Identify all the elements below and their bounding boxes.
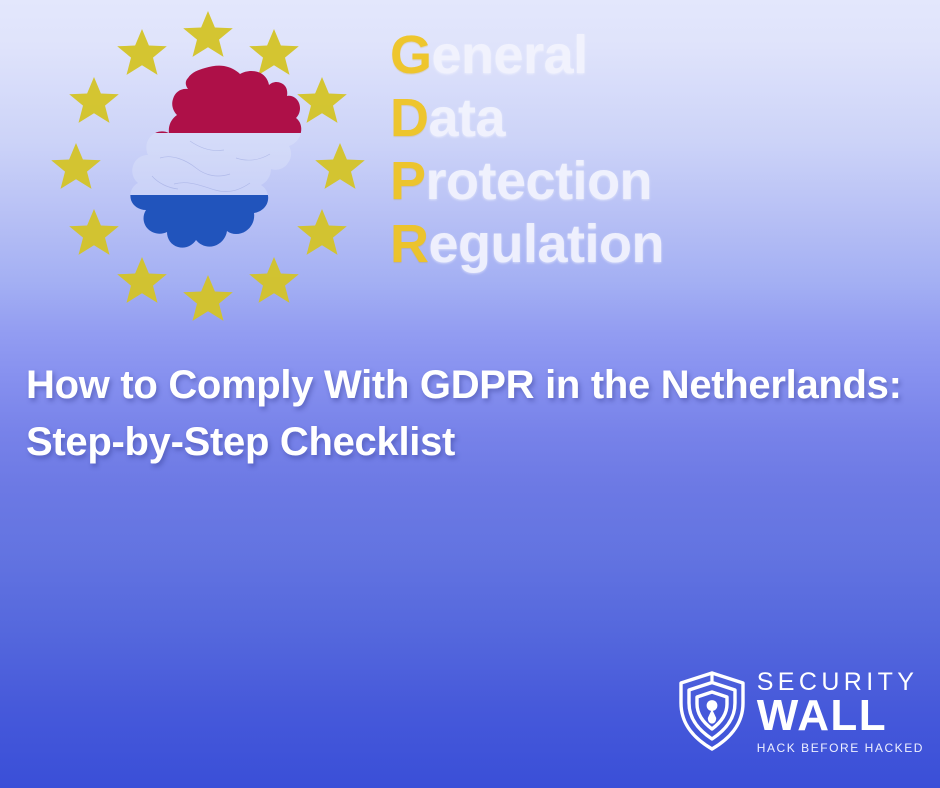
gdpr-rest-general: eneral [432,25,588,85]
gdpr-line-data: Data [390,91,664,145]
security-wall-shield-icon [677,669,747,753]
gdpr-netherlands-banner: General Data Protection Regulation How t… [0,0,940,788]
logo-word-wall: WALL [757,694,887,738]
gdpr-line-protection: Protection [390,154,664,208]
gdpr-line-general: General [390,28,664,82]
gdpr-cap-d: D [390,88,429,148]
gdpr-cap-p: P [390,151,426,211]
gdpr-cap-g: G [390,25,432,85]
gdpr-rest-regulation: egulation [429,214,665,274]
page-title: How to Comply With GDPR in the Netherlan… [26,357,926,471]
gdpr-rest-data: ata [429,88,506,148]
gdpr-rest-protection: rotection [426,151,653,211]
gdpr-cap-r: R [390,214,429,274]
shield-core-glyph [706,700,717,724]
eu-stars-netherlands-map-emblem [40,8,376,328]
gdpr-line-regulation: Regulation [390,217,664,271]
security-wall-logo[interactable]: SECURITY WALL HACK BEFORE HACKED [677,669,924,754]
security-wall-wordmark: SECURITY WALL HACK BEFORE HACKED [757,669,924,754]
logo-tagline: HACK BEFORE HACKED [757,742,924,754]
gdpr-acronym-block: General Data Protection Regulation [390,28,664,280]
netherlands-map-flag-fill [120,63,320,261]
